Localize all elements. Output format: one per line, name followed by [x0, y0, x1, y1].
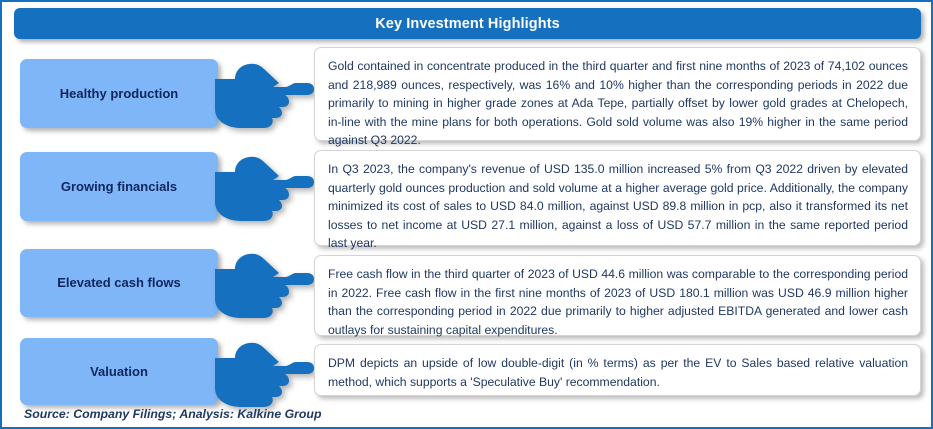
page-title: Key Investment Highlights	[375, 16, 560, 32]
highlight-text-card: Free cash flow in the third quarter of 2…	[314, 255, 921, 336]
pointing-hand-right-icon	[215, 150, 315, 226]
highlight-text-card: DPM depicts an upside of low double-digi…	[314, 344, 921, 396]
highlight-label-elevated-cash-flows[interactable]: Elevated cash flows	[20, 249, 218, 317]
highlight-label-growing-financials[interactable]: Growing financials	[20, 152, 218, 221]
highlight-body-text: In Q3 2023, the company's revenue of USD…	[328, 160, 908, 253]
source-note: Source: Company Filings; Analysis: Kalki…	[24, 407, 321, 421]
pointing-hand-right-icon	[215, 57, 315, 133]
pointing-hand-right-icon	[215, 247, 315, 323]
key-investment-highlights-figure: Key Investment Highlights Healthy produc…	[0, 0, 933, 429]
highlight-label-text: Valuation	[90, 364, 148, 380]
highlight-body-text: Gold contained in concentrate produced i…	[328, 57, 908, 150]
highlight-label-text: Elevated cash flows	[57, 275, 181, 291]
highlight-body-text: DPM depicts an upside of low double-digi…	[328, 354, 908, 391]
header-bar: Key Investment Highlights	[14, 8, 921, 39]
highlight-text-card: Gold contained in concentrate produced i…	[314, 47, 921, 141]
highlight-label-valuation[interactable]: Valuation	[20, 338, 218, 405]
highlight-text-card: In Q3 2023, the company's revenue of USD…	[314, 150, 921, 246]
highlight-label-text: Growing financials	[61, 179, 177, 195]
highlight-label-healthy-production[interactable]: Healthy production	[20, 59, 218, 128]
highlight-body-text: Free cash flow in the third quarter of 2…	[328, 265, 908, 339]
highlight-label-text: Healthy production	[60, 86, 178, 102]
pointing-hand-right-icon	[215, 336, 315, 412]
